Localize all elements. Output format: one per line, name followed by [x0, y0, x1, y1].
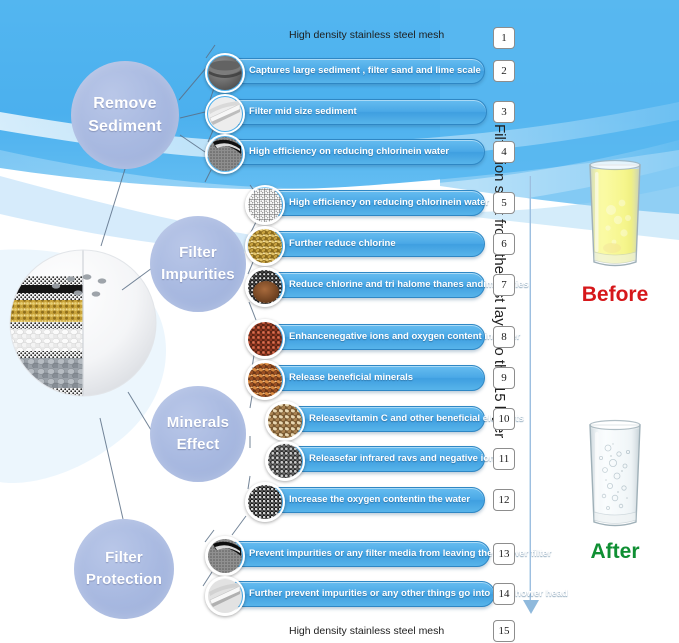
- layer-number-11: 11: [493, 448, 515, 470]
- layer-label: Release beneficial minerals: [289, 365, 413, 391]
- bubble-line-1: Filter: [179, 242, 217, 264]
- layer-number-4: 4: [493, 141, 515, 163]
- bubble-line-1: Remove: [93, 92, 156, 115]
- layer-number-9: 9: [493, 367, 515, 389]
- category-bubble-filter-protection[interactable]: Filter Protection: [74, 519, 174, 619]
- category-bubble-filter-impurities[interactable]: Filter Impurities: [150, 216, 246, 312]
- layer-caption-15: High density stainless steel mesh: [289, 625, 444, 637]
- before-label: Before: [555, 283, 675, 307]
- filtration-axis-line: [530, 176, 531, 604]
- layer-row-2[interactable]: Captures large sediment , filter sand an…: [205, 58, 485, 84]
- layer-number-7: 7: [493, 274, 515, 296]
- media-icon-tan-beads: [265, 401, 305, 441]
- bubble-line-2: Protection: [86, 569, 162, 591]
- layer-row-10[interactable]: Releasevitamin C and other beneficial el…: [265, 406, 485, 432]
- glass-after-image: [584, 408, 646, 532]
- glass-before-image: [584, 148, 646, 272]
- layer-label: Increase the oxygen contentin the water: [289, 487, 470, 513]
- media-icon-golden-granules: [245, 226, 285, 266]
- layer-number-15: 15: [493, 620, 515, 642]
- layer-number-12: 12: [493, 489, 515, 511]
- layer-row-8[interactable]: Enhancenegative ions and oxygen content …: [245, 324, 485, 350]
- layer-number-14: 14: [493, 583, 515, 605]
- media-icon-black-white-mesh: [205, 536, 245, 576]
- infographic-canvas: Remove Sediment Filter Impurities Minera…: [0, 0, 679, 643]
- layer-row-6[interactable]: Further reduce chlorine: [245, 231, 485, 257]
- layer-number-6: 6: [493, 233, 515, 255]
- filtration-arrow-icon: [523, 600, 539, 614]
- layer-label: High efficiency on reducing chlorinein w…: [249, 139, 449, 165]
- bubble-line-2: Impurities: [161, 264, 235, 286]
- layer-number-2: 2: [493, 60, 515, 82]
- media-icon-dark-gray-beads: [265, 441, 305, 481]
- category-bubble-minerals-effect[interactable]: Minerals Effect: [150, 386, 246, 482]
- layer-row-5[interactable]: High efficiency on reducing chlorinein w…: [245, 190, 485, 216]
- media-icon-dark-brown-granules: [245, 267, 285, 307]
- layer-number-13: 13: [493, 543, 515, 565]
- layer-caption-1: High density stainless steel mesh: [289, 29, 444, 41]
- layer-row-11[interactable]: Releasefar infrared ravs and negative io…: [265, 446, 485, 472]
- category-bubble-remove-sediment[interactable]: Remove Sediment: [71, 61, 179, 169]
- bubble-line-1: Filter: [105, 547, 143, 569]
- media-icon-white-pad: [205, 576, 245, 616]
- layer-row-9[interactable]: Release beneficial minerals: [245, 365, 485, 391]
- bubble-line-2: Effect: [177, 434, 220, 456]
- layer-row-3[interactable]: Filter mid size sediment: [205, 99, 487, 125]
- layer-number-10: 10: [493, 408, 515, 430]
- layer-label: Further reduce chlorine: [289, 231, 396, 257]
- layer-label: Releasefar infrared ravs and negative io…: [309, 446, 500, 472]
- media-icon-white-pad: [205, 94, 245, 134]
- bubble-line-2: Sediment: [88, 115, 162, 138]
- layer-number-8: 8: [493, 326, 515, 348]
- media-icon-black-white-mesh: [205, 134, 245, 174]
- layer-number-5: 5: [493, 192, 515, 214]
- layer-label: Captures large sediment , filter sand an…: [249, 58, 481, 84]
- layer-row-7[interactable]: Reduce chlorine and tri halome thanes an…: [245, 272, 485, 298]
- after-label: After: [555, 540, 675, 564]
- media-icon-orange-brown-beads: [245, 360, 285, 400]
- layer-number-1: 1: [493, 27, 515, 49]
- layer-row-13[interactable]: Prevent impurities or any filter media f…: [205, 541, 490, 567]
- layer-row-12[interactable]: Increase the oxygen contentin the water: [245, 487, 485, 513]
- layer-label: Filter mid size sediment: [249, 99, 357, 125]
- bubble-line-1: Minerals: [167, 412, 229, 434]
- layer-label: High efficiency on reducing chlorinein w…: [289, 190, 489, 216]
- layer-row-4[interactable]: High efficiency on reducing chlorinein w…: [205, 139, 485, 165]
- media-icon-white-beads: [245, 185, 285, 225]
- media-icon-gray-disc: [205, 53, 245, 93]
- media-icon-black-gray-beads: [245, 482, 285, 522]
- layer-row-14[interactable]: Further prevent impurities or any other …: [205, 581, 495, 607]
- layer-number-3: 3: [493, 101, 515, 123]
- layer-label: Further prevent impurities or any other …: [249, 581, 568, 607]
- media-icon-red-brown-beads: [245, 319, 285, 359]
